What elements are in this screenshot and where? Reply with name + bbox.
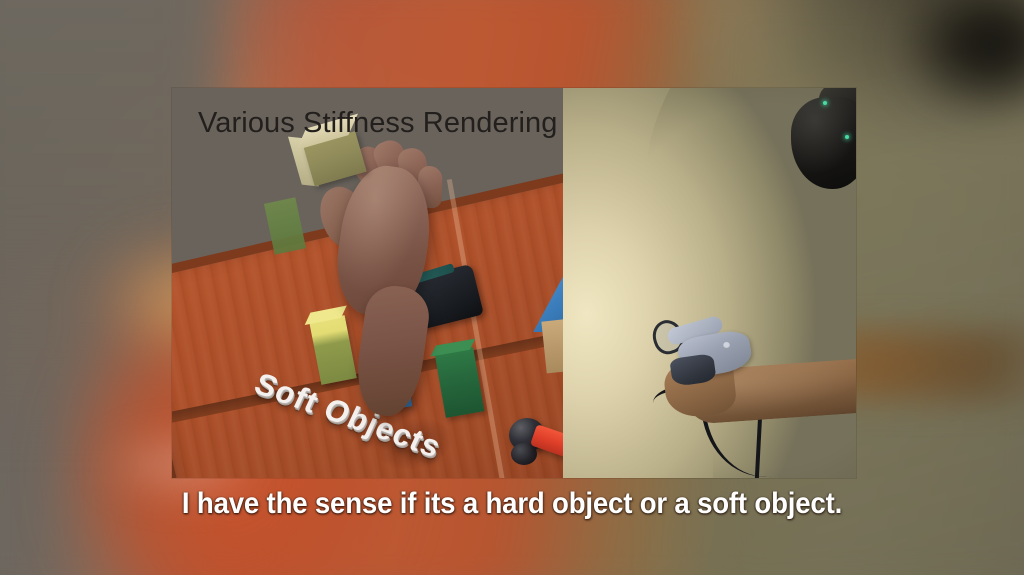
headset-led-icon [823, 101, 827, 105]
background-dark-blob [860, 0, 1024, 120]
haptic-device-knob [723, 342, 730, 349]
real-camera-panel [563, 88, 856, 478]
vr-scene-title: Various Stiffness Rendering [198, 107, 558, 140]
headset-body [791, 97, 856, 189]
virtual-hand [306, 118, 476, 408]
user-arm [645, 356, 856, 452]
vr-scene-panel: Soft Objects Various Stiffness Rendering [172, 88, 563, 478]
video-window: Soft Objects Various Stiffness Rendering [172, 88, 856, 478]
headset-led-secondary-icon [845, 135, 849, 139]
haptic-device-grip [669, 353, 716, 387]
subtitle-caption: I have the sense if its a hard object or… [41, 487, 983, 521]
vr-headset [791, 88, 856, 193]
haptic-device [653, 320, 759, 394]
